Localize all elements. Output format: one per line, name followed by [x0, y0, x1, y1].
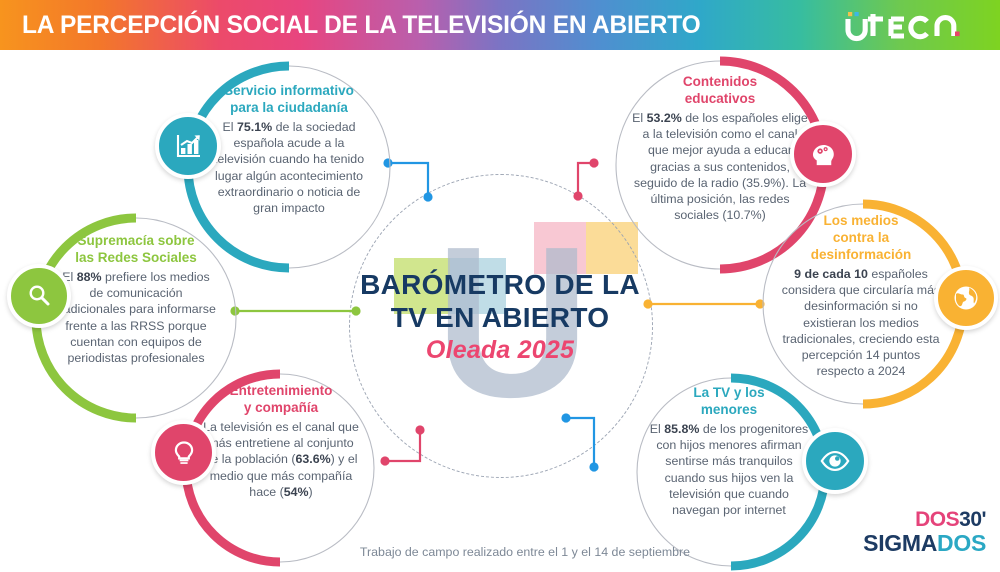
card-body-entretenimiento: La televisión es el canal que más entret…	[200, 419, 362, 500]
card-title-menores: La TV y losmenores	[644, 384, 814, 418]
bar-chart-growth-icon	[155, 113, 221, 179]
sigmados-logo: DOS30' SIGMADOS	[863, 509, 986, 555]
magnifier-icon	[7, 264, 71, 328]
card-title-contenidos: Contenidoseducativos	[632, 73, 808, 107]
head-gears-icon	[790, 121, 856, 187]
sigmados-logo-sigma: SIGMA	[863, 530, 937, 556]
eye-icon	[802, 428, 868, 494]
infographic-canvas: LA PERCEPCIÓN SOCIAL DE LA TELEVISIÓN EN…	[0, 0, 1000, 567]
card-title-supremacia: Supremacía sobrelas Redes Sociales	[54, 232, 218, 266]
sigmados-logo-dos2: DOS	[937, 530, 986, 556]
card-body-desinformacion: 9 de cada 10 españoles considera que cir…	[777, 266, 945, 379]
card-body-menores: El 85.8% de los progenitores con hijos m…	[644, 421, 814, 518]
sigmados-logo-30: 30'	[959, 508, 986, 531]
card-title-desinformacion: Los medioscontra ladesinformación	[777, 212, 945, 263]
sigmados-logo-dos: DOS	[915, 508, 959, 531]
globe-icon	[934, 266, 998, 330]
card-body-supremacia: El 88% prefiere los medios de comunicaci…	[54, 269, 218, 366]
card-body-servicio: El 75.1% de la sociedad española acude a…	[208, 119, 370, 216]
lightbulb-icon	[151, 420, 216, 485]
fieldwork-note: Trabajo de campo realizado entre el 1 y …	[330, 545, 720, 559]
card-title-entretenimiento: Entretenimientoy compañía	[200, 382, 362, 416]
card-title-servicio: Servicio informativopara la ciudadanía	[208, 82, 370, 116]
